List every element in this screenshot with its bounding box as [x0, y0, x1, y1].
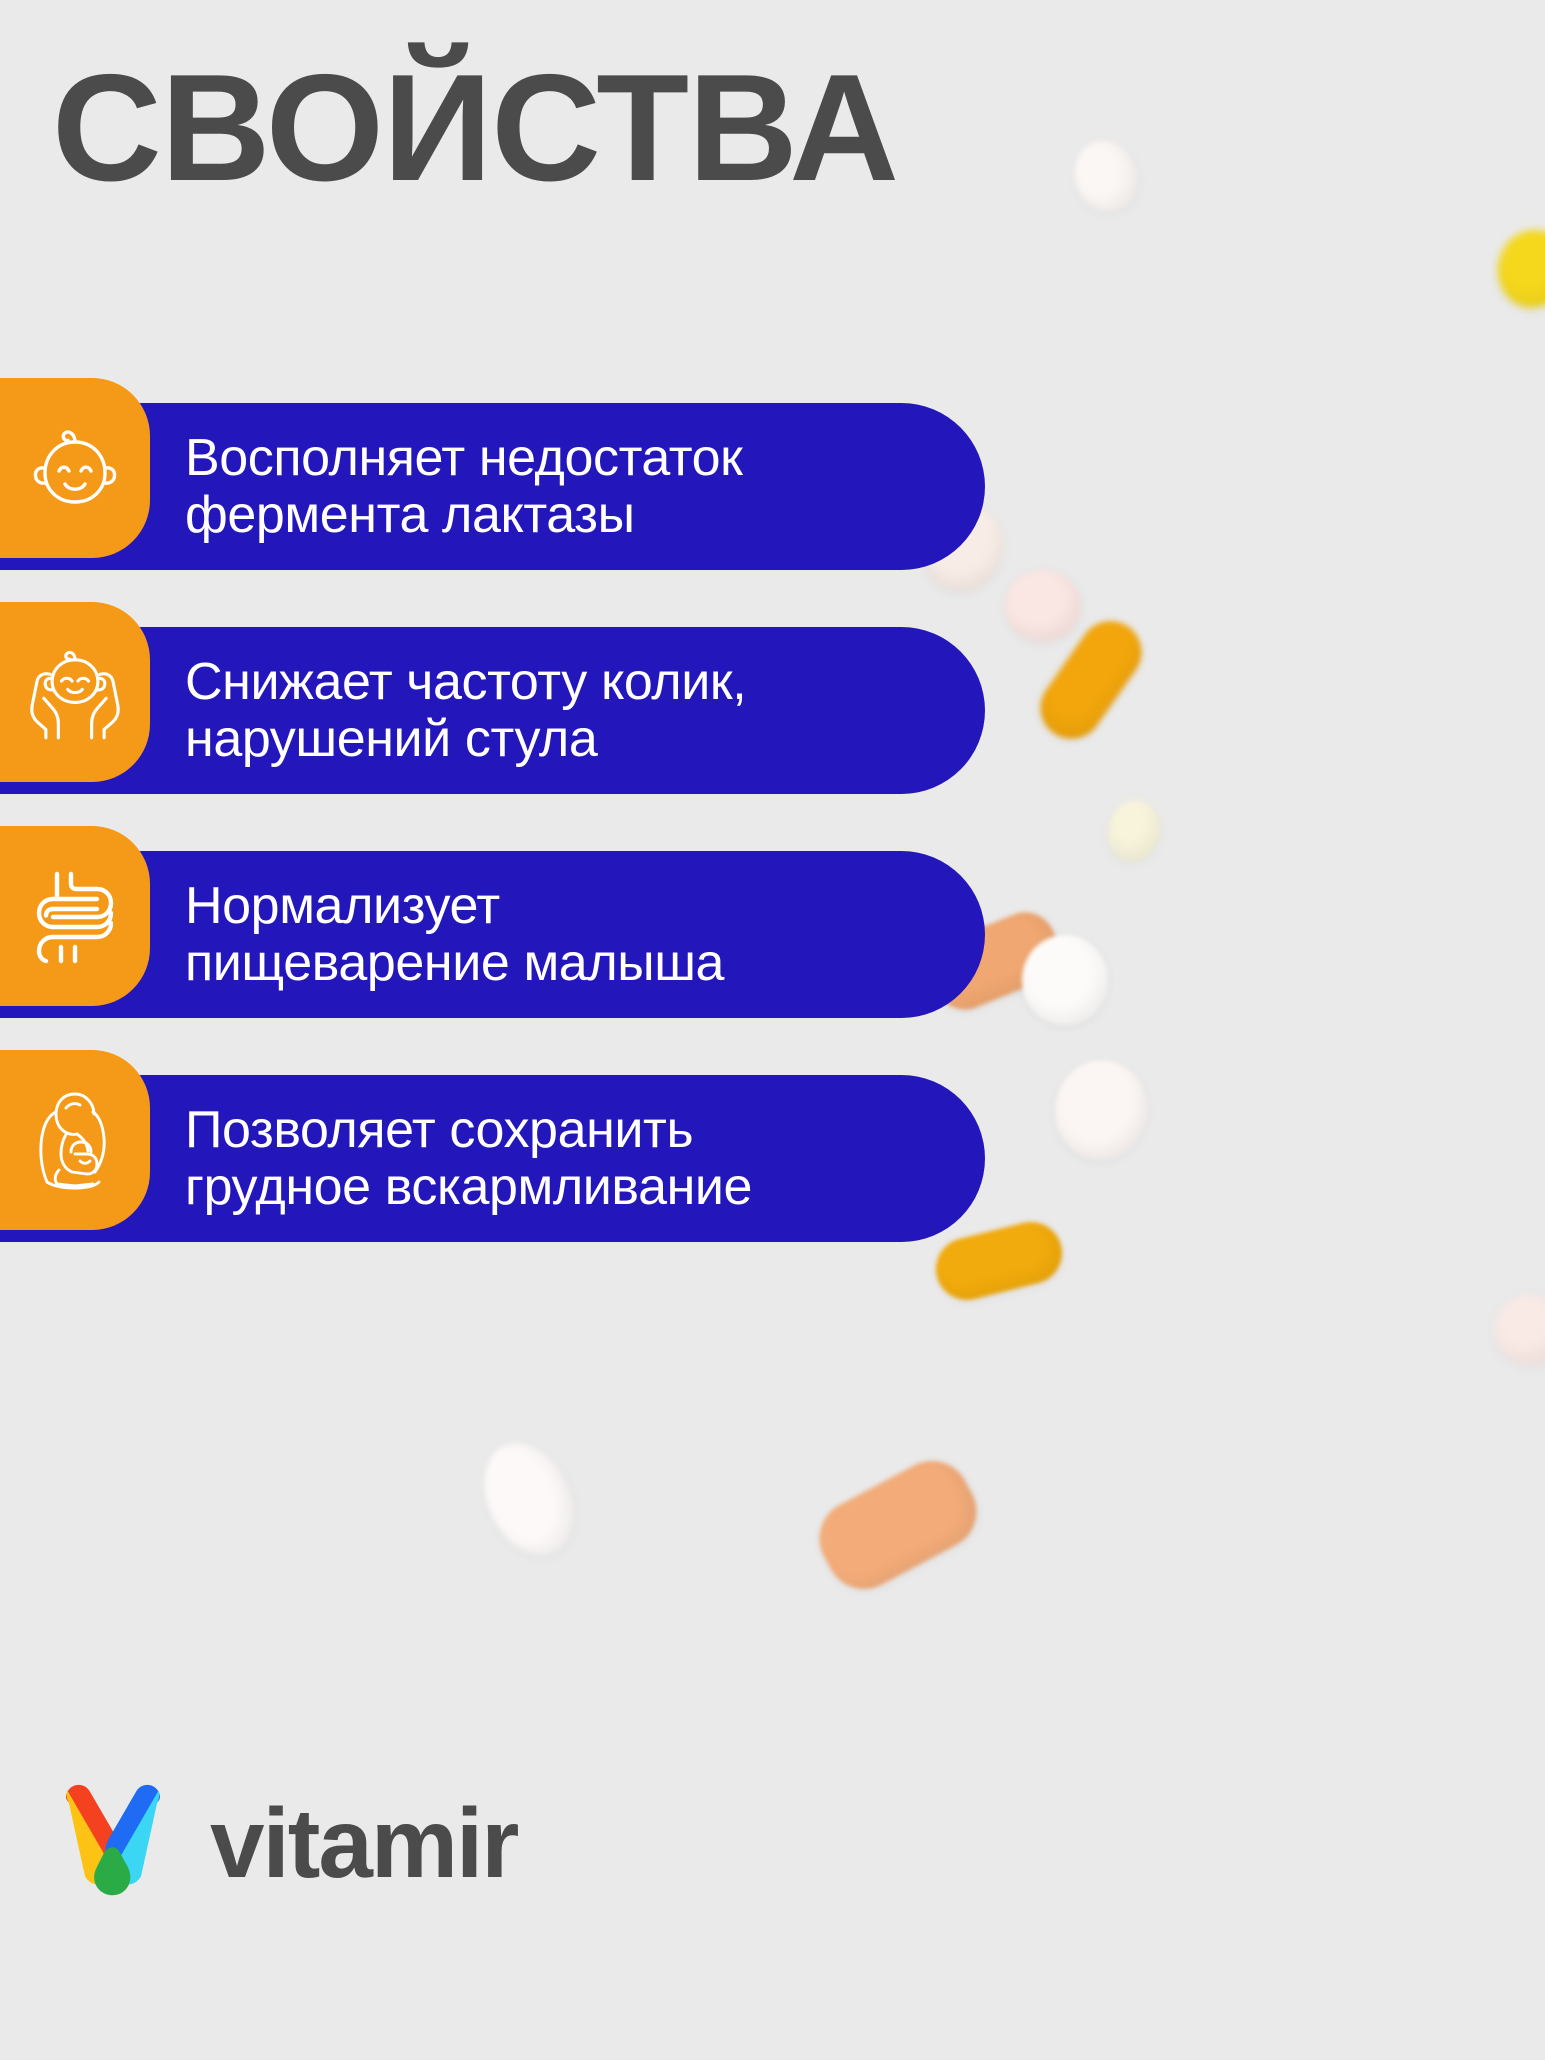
feature-icon-badge: [0, 602, 150, 782]
feature-list: Восполняет недостаток фермента лактазы: [0, 378, 1545, 1274]
brand-wordmark: vitamir: [210, 1794, 517, 1892]
baby-face-icon: [25, 418, 125, 518]
yellow-round-tablet: [1492, 225, 1545, 314]
feature-text-line2: фермента лактазы: [185, 487, 742, 543]
pink-round-tablet-2: [1495, 1295, 1545, 1365]
feature-text: Снижает частоту колик, нарушений стула: [185, 654, 746, 766]
feature-text: Нормализует пищеварение малыша: [185, 878, 724, 990]
feature-text-line1: Восполняет недостаток: [185, 430, 742, 486]
feature-text-line2: нарушений стула: [185, 711, 746, 767]
feature-text-line2: грудное вскармливание: [185, 1159, 752, 1215]
feature-row: Нормализует пищеварение малыша: [0, 826, 1545, 1018]
breastfeeding-mother-icon: [25, 1086, 125, 1194]
white-oval-tablet-3: [467, 1428, 591, 1570]
feature-icon-badge: [0, 826, 150, 1006]
orange-oblong-tablet-2: [806, 1448, 990, 1603]
feature-text: Позволяет сохранить грудное вскармливани…: [185, 1102, 752, 1214]
brand-logo: vitamir: [52, 1782, 517, 1904]
vitamir-v-logo: [52, 1782, 174, 1904]
white-round-tablet: [1065, 132, 1146, 220]
feature-icon-badge: [0, 1050, 150, 1230]
feature-icon-badge: [0, 378, 150, 558]
page-title: СВОЙСТВА: [52, 52, 898, 204]
feature-text-line1: Нормализует: [185, 878, 724, 934]
feature-text-line1: Снижает частоту колик,: [185, 654, 746, 710]
feature-text: Восполняет недостаток фермента лактазы: [185, 430, 742, 542]
feature-text-line2: пищеварение малыша: [185, 935, 724, 991]
intestine-icon: [27, 866, 123, 966]
feature-row: Позволяет сохранить грудное вскармливани…: [0, 1050, 1545, 1242]
feature-text-line1: Позволяет сохранить: [185, 1102, 752, 1158]
baby-in-hands-icon: [23, 640, 127, 744]
poster-canvas: СВОЙСТВА Восполняет недостаток фермента …: [0, 0, 1545, 2060]
feature-row: Снижает частоту колик, нарушений стула: [0, 602, 1545, 794]
feature-row: Восполняет недостаток фермента лактазы: [0, 378, 1545, 570]
